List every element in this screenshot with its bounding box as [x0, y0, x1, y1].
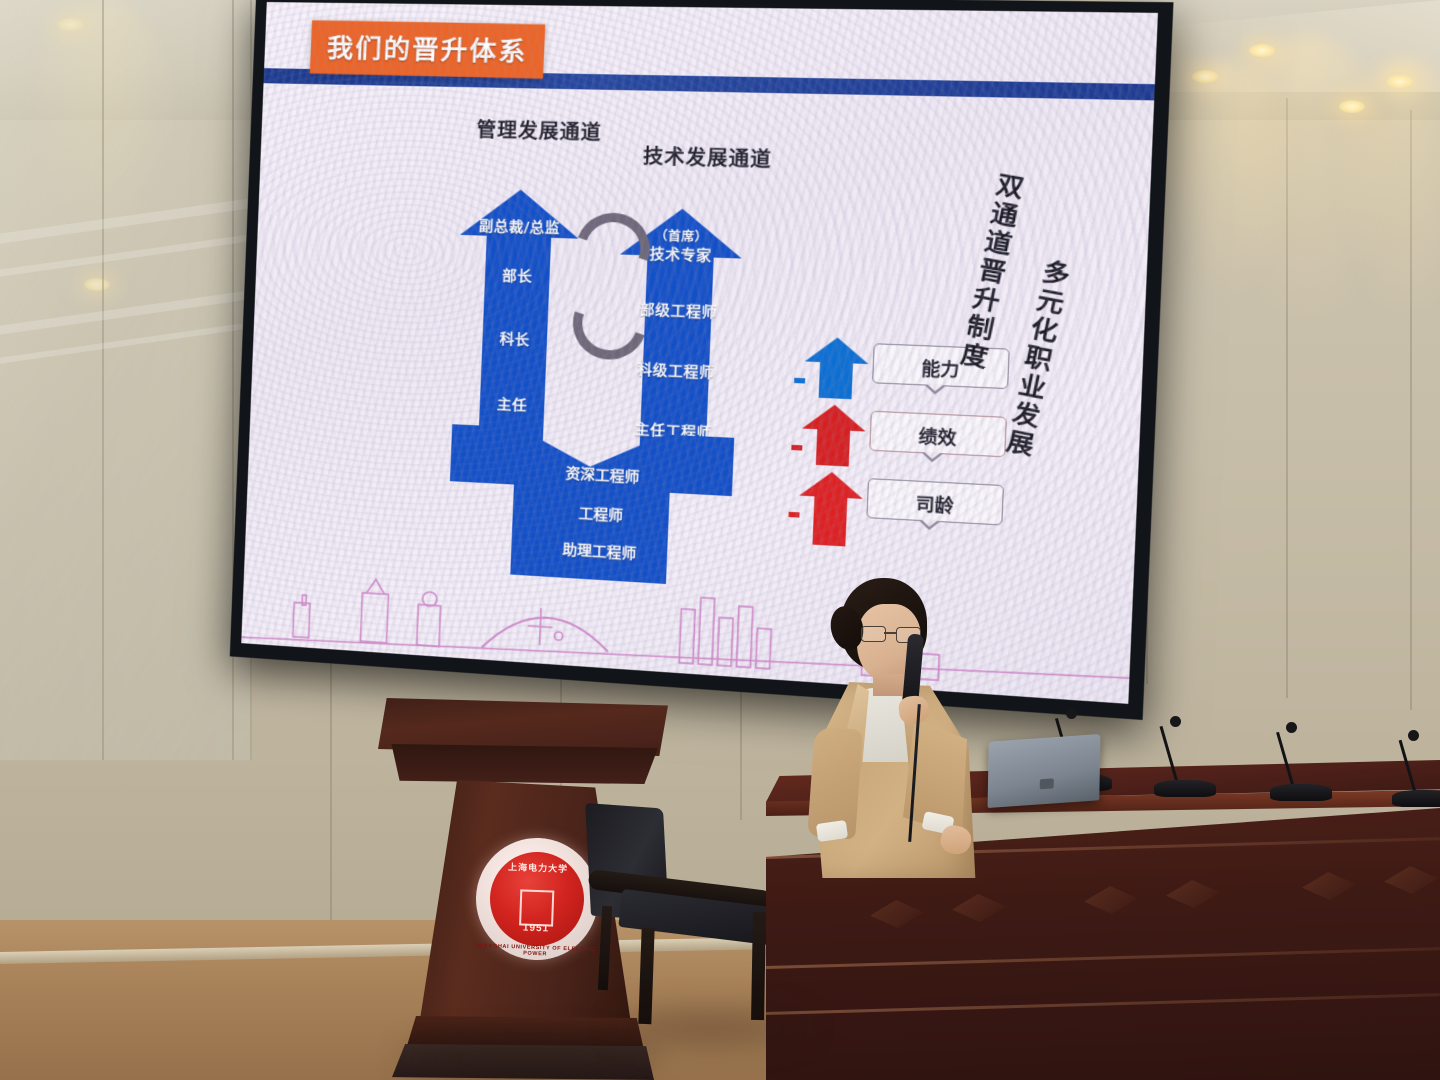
lens-left [861, 626, 886, 642]
box-notch [924, 384, 947, 395]
glass-seam [102, 0, 104, 760]
criteria-arrow-ability [803, 336, 869, 400]
laptop [988, 734, 1101, 808]
arrow-tick [794, 378, 805, 384]
slide-content: 我们的晋升体系 管理发展通道 技术发展通道 副总裁/总监 部长 科长 主任 [241, 2, 1158, 704]
floor-shadow [616, 1012, 806, 1042]
ceiling-spotlight [1249, 44, 1275, 57]
career-path-diagram: 副总裁/总监 部长 科长 主任 （首席） 技术专家 部级工程师 科级工程师 主任… [442, 168, 775, 584]
criteria-arrow-tenure [797, 470, 864, 547]
mic-capsule [1170, 716, 1181, 727]
box-notch [918, 520, 941, 531]
presentation-screen: 我们的晋升体系 管理发展通道 技术发展通道 副总裁/总监 部长 科长 主任 [230, 0, 1174, 720]
mic-base [1392, 790, 1440, 807]
mic-capsule [1286, 722, 1297, 733]
chair-leg [751, 912, 766, 1020]
track-header-management: 管理发展通道 [476, 115, 602, 146]
slide-title-banner: 我们的晋升体系 [310, 20, 546, 78]
slide-title: 我们的晋升体系 [326, 34, 528, 68]
arrow-shaft [812, 496, 847, 546]
ceiling-spotlight [1192, 70, 1218, 83]
arrow-shaft [819, 362, 853, 399]
emblem-inner-disc: 上海电力大学 1951 [488, 850, 585, 947]
glasses-bridge [884, 632, 896, 634]
wall-seam [1286, 98, 1288, 698]
auditorium-photo: 我们的晋升体系 管理发展通道 技术发展通道 副总裁/总监 部长 科长 主任 [0, 0, 1440, 1080]
ceiling-spotlight [1387, 75, 1413, 88]
floor-shadow [404, 1040, 654, 1078]
glass-reflection [0, 198, 250, 243]
laptop-hinge [1039, 778, 1053, 789]
mgmt-level-label: 科长 [455, 327, 574, 352]
criteria-box-tenure: 司龄 [866, 478, 1004, 525]
mic-base [1270, 784, 1332, 801]
presenter-person [795, 578, 985, 878]
emblem-chinese-text: 上海电力大学 [491, 859, 585, 875]
emblem-year: 1951 [489, 921, 583, 935]
criteria-label: 司龄 [868, 487, 1003, 521]
arrow-tick [788, 512, 799, 518]
wall-seam [1410, 110, 1412, 710]
arrow-head [799, 470, 864, 499]
ceiling-spotlight [1339, 100, 1365, 113]
glass-reflection [0, 234, 250, 276]
criteria-arrow-performance [801, 403, 867, 467]
mic-capsule [1066, 708, 1077, 719]
criteria-box-performance: 绩效 [869, 411, 1007, 458]
arrow-shaft [816, 429, 850, 466]
criteria-label: 绩效 [871, 419, 1006, 452]
arrow-tick [791, 445, 802, 451]
mic-base [1154, 780, 1216, 797]
neck [873, 674, 905, 696]
mgmt-level-label: 部长 [458, 263, 577, 288]
emblem-glyph [519, 889, 554, 926]
mic-capsule [1408, 730, 1419, 741]
tech-level-label: 科级工程师 [615, 358, 738, 384]
track-header-technical: 技术发展通道 [643, 141, 773, 172]
box-notch [921, 452, 944, 463]
mgmt-level-label: 副总裁/总监 [460, 214, 579, 238]
arrow-head [805, 336, 870, 364]
mgmt-level-label: 主任 [453, 392, 572, 418]
arrow-head [802, 403, 867, 431]
lectern-lip [386, 744, 658, 784]
glass-wall-panel [0, 0, 252, 760]
